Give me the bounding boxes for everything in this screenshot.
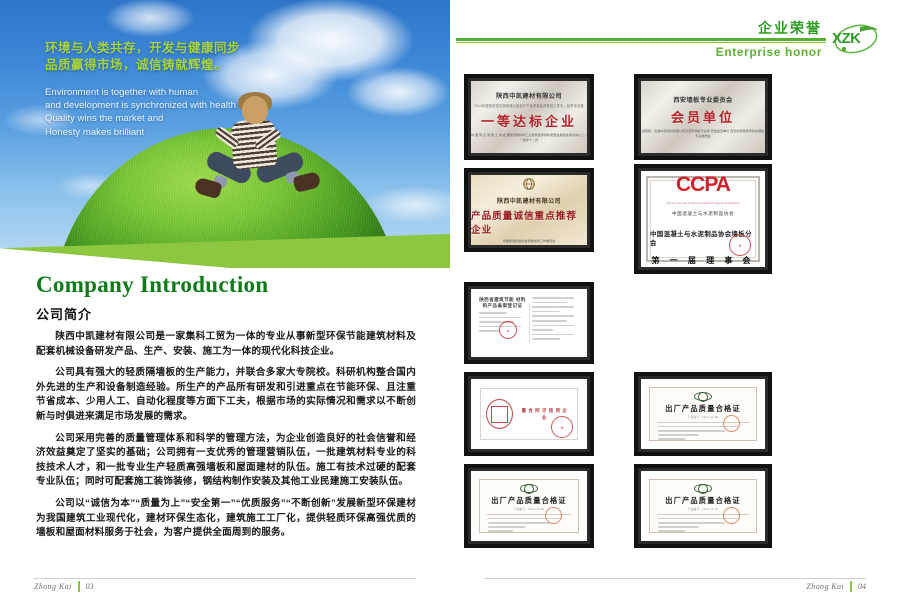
left-page-footer: Zhong Kai 03 xyxy=(34,577,94,595)
quality-certificate-number: 产品编号：2014-11-08 xyxy=(688,415,719,419)
text-line xyxy=(532,320,567,322)
text-line xyxy=(532,325,574,327)
quality-certificate-title: 出厂产品质量合格证 xyxy=(491,496,567,506)
plaque-org: 西安墙板专业委员会 xyxy=(673,95,732,104)
ccpa-logo-text: CCPA xyxy=(676,173,730,197)
quality-certificate-content: 出厂产品质量合格证 产品编号：2014-11-10 xyxy=(649,479,757,533)
text-line xyxy=(532,302,567,304)
hero-headline-en-line4: Honesty makes brilliant xyxy=(45,126,325,139)
text-line xyxy=(532,329,553,331)
certificate-item[interactable]: 陕西中凯建材有限公司 产品质量诚信重点推荐企业 中国质量检验协会质量信用工作委员… xyxy=(464,168,594,252)
text-line xyxy=(658,430,725,432)
document-spread: 陕西省建筑节能 材料和产品备案登记证 ● xyxy=(479,297,579,349)
right-page: 企业荣誉 Enterprise honor XZK 陕西中凯建材有限公司 201… xyxy=(450,0,900,611)
quality-certificate-title: 出厂产品质量合格证 xyxy=(665,404,741,414)
plaque-subtext: 2014年度陕西省住房和城乡建设厅产品质量监督检验工作中，经考评合格 xyxy=(474,103,584,108)
footer-separator-right xyxy=(850,581,852,592)
text-line xyxy=(532,338,560,340)
hero-headline-en-line3: Quality wins the market and xyxy=(45,112,325,125)
header-rule-secondary xyxy=(456,42,826,43)
quality-certificate-number: 产品编号：2014-11-09 xyxy=(514,507,545,511)
xzk-logo: XZK xyxy=(826,22,886,56)
text-line xyxy=(658,522,725,524)
ccpa-association-en: China Concrete & Cement-based Products A… xyxy=(666,202,739,205)
text-line xyxy=(488,522,550,524)
red-seal-icon: ● xyxy=(499,321,517,339)
plaque-issuer: 中 国 砖 瓦 混 凝 土 协 会 国家建筑材料工业建筑装饰材料质量监督检验测试… xyxy=(471,133,587,143)
footer-separator-left xyxy=(78,581,80,592)
plaque-org: 陕西中凯建材有限公司 xyxy=(497,196,561,205)
plaque-main-title: 一等达标企业 xyxy=(481,111,577,130)
framed-quality-certificate: 出厂产品质量合格证 产品编号：2014-11-08 xyxy=(638,376,768,452)
document-title: 陕西省建筑节能 材料和产品备案登记证 xyxy=(479,297,526,309)
plaque-main-title: 会员单位 xyxy=(671,107,735,126)
red-seal-icon: ★ xyxy=(551,416,573,438)
quality-certificate-number: 产品编号：2014-11-10 xyxy=(688,507,719,511)
framed-document-registration: 陕西省建筑节能 材料和产品备案登记证 ● xyxy=(468,286,590,360)
section-title-en: Enterprise honor xyxy=(716,45,822,59)
quality-certificate-title: 出厂产品质量合格证 xyxy=(665,496,741,506)
red-seal-icon: ★ xyxy=(729,234,751,256)
text-line xyxy=(532,311,560,313)
hero-headline-en-line2: and development is synchronized with hea… xyxy=(45,99,325,112)
certificate-item[interactable]: 陕西省建筑节能 材料和产品备案登记证 ● xyxy=(464,282,594,364)
text-line xyxy=(532,334,574,336)
national-emblem-icon xyxy=(520,484,538,493)
quality-certificate-content: 出厂产品质量合格证 产品编号：2014-11-09 xyxy=(479,479,579,533)
certificate-row: 陕西中凯建材有限公司 产品质量诚信重点推荐企业 中国质量检验协会质量信用工作委员… xyxy=(464,168,888,274)
header-rule-primary xyxy=(456,38,826,41)
text-line xyxy=(658,526,698,528)
intro-paragraph-4: 公司以“诚信为本”“质量为上”“安全第一”“优质服务”“不断创新”发展新型环保建… xyxy=(36,497,416,541)
section-title-cn: 企业荣誉 xyxy=(758,18,822,38)
red-seal-icon xyxy=(723,415,740,432)
document-right-column xyxy=(532,297,579,349)
certificate-item[interactable]: 陕西中凯建材有限公司 2014年度陕西省住房和城乡建设厅产品质量监督检验工作中，… xyxy=(464,74,594,160)
brochure-spread: 环境与人类共存，开发与健康同步 品质赢得市场，诚信铸就辉煌。 Environme… xyxy=(0,0,900,611)
footer-page-number-left: 03 xyxy=(86,582,94,591)
page-title-cn: 公司简介 xyxy=(36,304,416,323)
company-introduction-section: Company Introduction 公司简介 陕西中凯建材有限公司是一家集… xyxy=(0,272,450,541)
certificate-item[interactable]: 出厂产品质量合格证 产品编号：2014-11-10 xyxy=(634,464,772,548)
framed-certificate-ccpa: CCPA China Concrete & Cement-based Produ… xyxy=(638,168,768,270)
certificate-row: 陕西省建筑节能 材料和产品备案登记证 ● xyxy=(464,282,888,364)
text-line xyxy=(488,530,513,532)
text-line xyxy=(532,297,574,299)
ccpa-council-line: 第 一 届 理 事 会 xyxy=(651,255,754,266)
hero-text-block: 环境与人类共存，开发与健康同步 品质赢得市场，诚信铸就辉煌。 Environme… xyxy=(45,40,325,139)
text-line xyxy=(532,306,574,308)
hero-image: 环境与人类共存，开发与健康同步 品质赢得市场，诚信铸就辉煌。 Environme… xyxy=(0,0,450,268)
text-line xyxy=(488,526,525,528)
certificate-row: 重 合 同 守 信 用 企 业 ★ xyxy=(464,372,888,456)
plaque-issuer: 经审核，批准中凯建材有限公司为西安墙板专业委 员会会员单位 西安市建筑装饰协会墙… xyxy=(641,129,765,139)
plaque-org: 陕西中凯建材有限公司 xyxy=(496,91,562,100)
text-line xyxy=(658,530,685,532)
certificate-row: 出厂产品质量合格证 产品编号：2014-11-09 xyxy=(464,464,888,548)
document-fold-line xyxy=(529,303,530,343)
quality-certificate-content: 出厂产品质量合格证 产品编号：2014-11-08 xyxy=(649,387,757,441)
text-line xyxy=(658,434,698,436)
national-emblem-icon xyxy=(694,484,712,493)
document-left-column: 陕西省建筑节能 材料和产品备案登记证 ● xyxy=(479,297,526,349)
text-line xyxy=(479,330,500,332)
text-line xyxy=(658,438,685,440)
text-line xyxy=(479,312,507,314)
plaque-member-unit: 西安墙板专业委员会 会员单位 经审核，批准中凯建材有限公司为西安墙板专业委 员会… xyxy=(638,78,768,156)
framed-quality-certificate: 出厂产品质量合格证 产品编号：2014-11-09 xyxy=(468,468,590,544)
certificate-item-placeholder xyxy=(634,282,772,364)
certificate-item[interactable]: 西安墙板专业委员会 会员单位 经审核，批准中凯建材有限公司为西安墙板专业委 员会… xyxy=(634,74,772,160)
logo-text: XZK xyxy=(832,30,861,47)
national-emblem-icon xyxy=(694,392,712,401)
section-header: 企业荣誉 Enterprise honor XZK xyxy=(450,0,900,70)
footer-brand-left: Zhong Kai xyxy=(34,582,72,591)
certificate-grid: 陕西中凯建材有限公司 2014年度陕西省住房和城乡建设厅产品质量监督检验工作中，… xyxy=(464,74,888,556)
certificate-row: 陕西中凯建材有限公司 2014年度陕西省住房和城乡建设厅产品质量监督检验工作中，… xyxy=(464,74,888,160)
page-title-en: Company Introduction xyxy=(36,272,416,298)
certificate-item[interactable]: 出厂产品质量合格证 产品编号：2014-11-09 xyxy=(464,464,594,548)
hero-headline-cn-line2: 品质赢得市场，诚信铸就辉煌。 xyxy=(45,57,325,74)
ccpa-association-cn: 中国混凝土与水泥制品协会 xyxy=(672,211,734,217)
plaque-issuer: 中国质量检验协会质量信用工作委员会 xyxy=(503,239,556,244)
footer-page-number-right: 04 xyxy=(858,582,866,591)
framed-quality-certificate: 出厂产品质量合格证 产品编号：2014-11-10 xyxy=(638,468,768,544)
plaque-award-first-class: 陕西中凯建材有限公司 2014年度陕西省住房和城乡建设厅产品质量监督检验工作中，… xyxy=(468,78,590,156)
footer-brand-right: Zhong Kai xyxy=(806,582,844,591)
text-line xyxy=(479,317,521,319)
certificate-item[interactable]: CCPA China Concrete & Cement-based Produ… xyxy=(634,164,772,274)
plaque-recommended-enterprise: 陕西中凯建材有限公司 产品质量诚信重点推荐企业 中国质量检验协会质量信用工作委员… xyxy=(468,172,590,248)
credit-emblem-icon xyxy=(486,399,513,429)
left-page: 环境与人类共存，开发与健康同步 品质赢得市场，诚信铸就辉煌。 Environme… xyxy=(0,0,450,611)
red-seal-icon xyxy=(723,507,740,524)
plaque-main-title: 产品质量诚信重点推荐企业 xyxy=(471,208,587,236)
framed-credit-certificate: 重 合 同 守 信 用 企 业 ★ xyxy=(468,376,590,452)
intro-paragraph-2: 公司具有强大的轻质隔墙板的生产能力，并联合多家大专院校。科研机构整合国内外先进的… xyxy=(36,366,416,424)
intro-paragraph-3: 公司采用完善的质量管理体系和科学的管理方法，为企业创造良好的社会信誉和经济效益奠… xyxy=(36,432,416,490)
hero-headline-cn-line1: 环境与人类共存，开发与健康同步 xyxy=(45,40,325,57)
certificate-item[interactable]: 出厂产品质量合格证 产品编号：2014-11-08 xyxy=(634,372,772,456)
right-page-footer: Zhong Kai 04 xyxy=(806,577,866,595)
red-seal-icon xyxy=(545,507,562,524)
text-line xyxy=(532,315,574,317)
hero-headline-en-line1: Environment is together with human xyxy=(45,86,325,99)
intro-paragraph-1: 陕西中凯建材有限公司是一家集科工贸为一体的专业从事新型环保节能建筑材料及配套机械… xyxy=(36,330,416,359)
globe-emblem-icon xyxy=(521,177,537,193)
certificate-item[interactable]: 重 合 同 守 信 用 企 业 ★ xyxy=(464,372,594,456)
